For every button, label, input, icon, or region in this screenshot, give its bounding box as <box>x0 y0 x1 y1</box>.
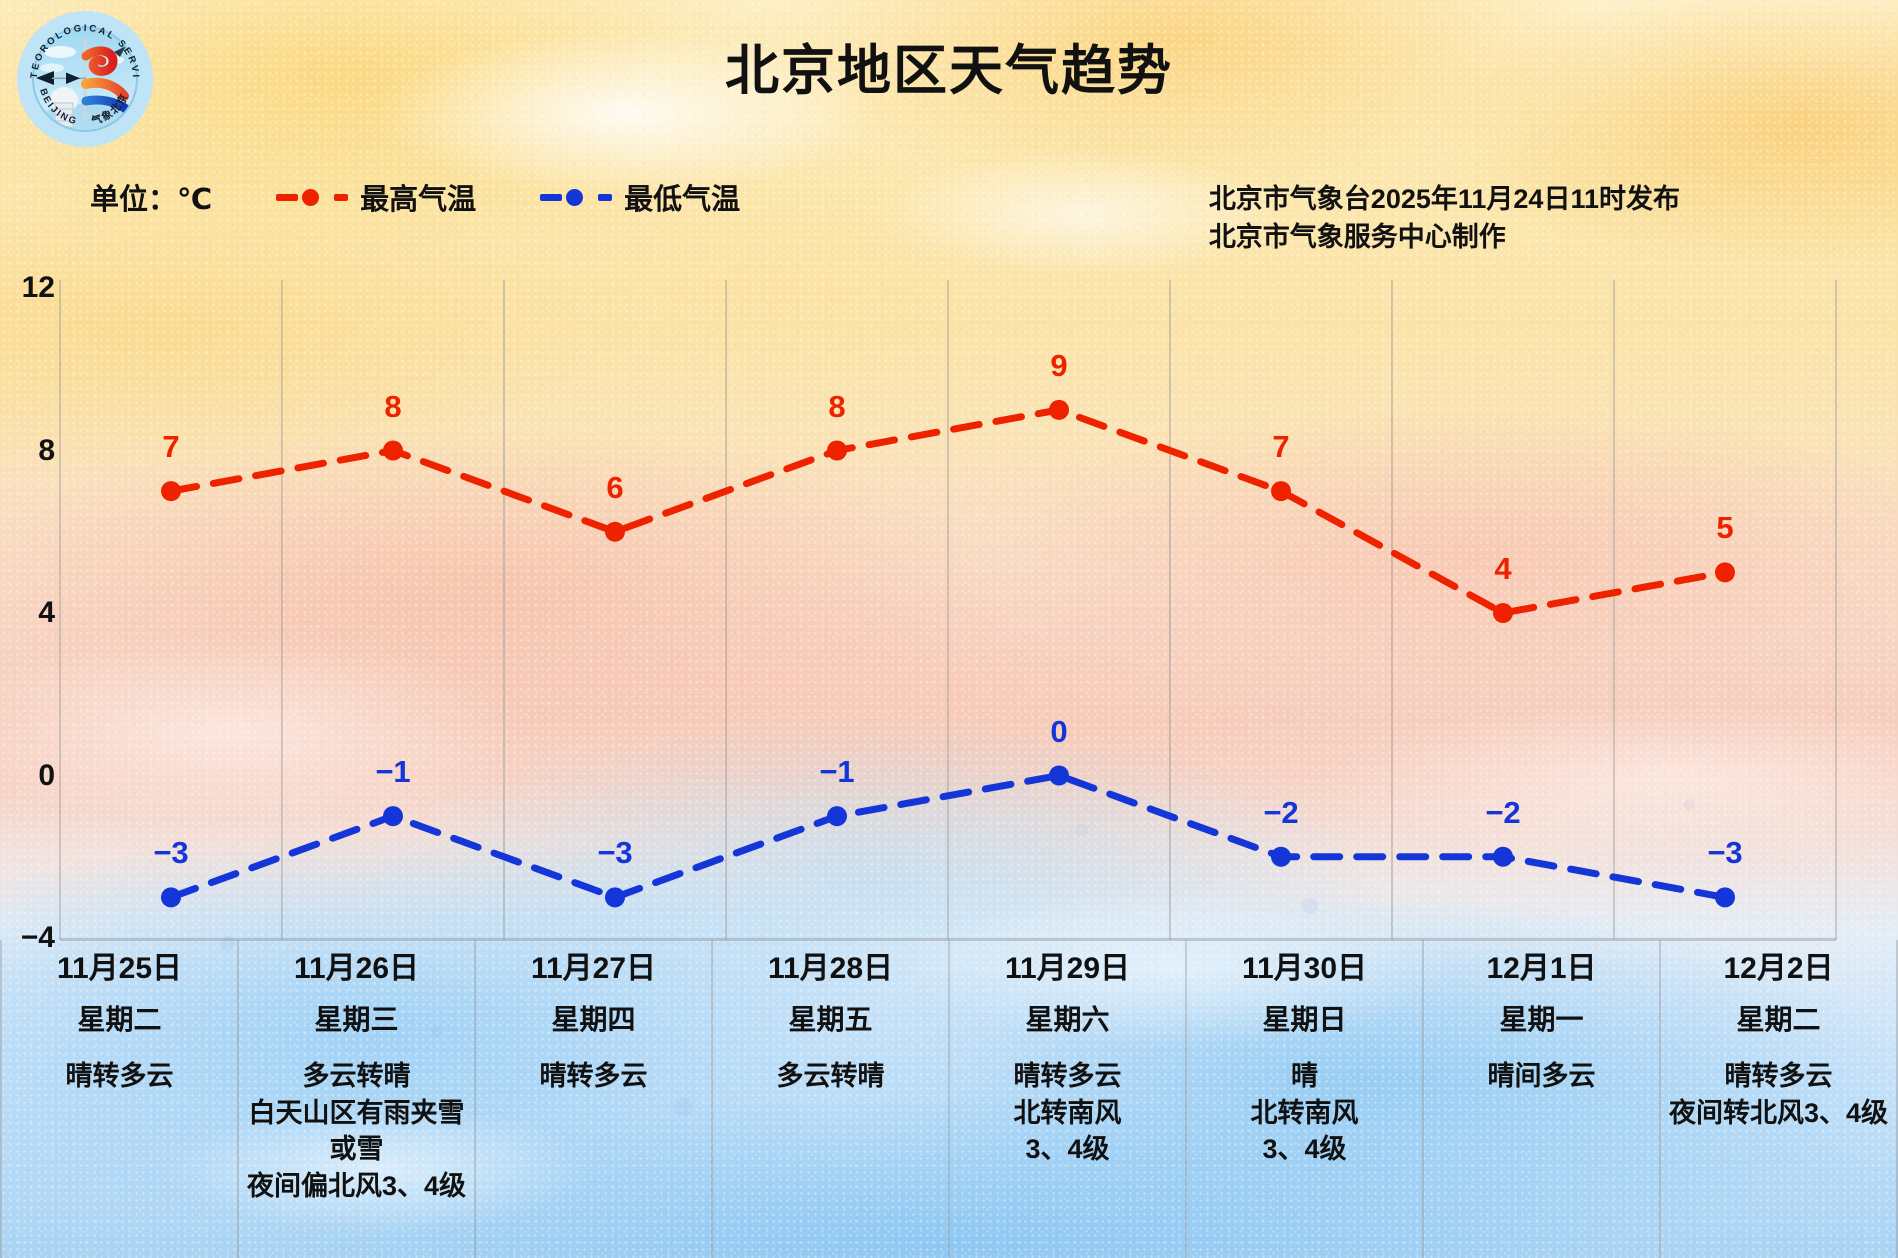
day-weather-description: 多云转晴 <box>719 1058 942 1095</box>
day-weather-line: 晴间多云 <box>1430 1058 1653 1095</box>
day-date: 12月2日 <box>1667 954 1890 984</box>
high-temp-value-label: 5 <box>1716 510 1733 546</box>
issuer-line-1: 北京市气象台2025年11月24日11时发布 <box>1209 180 1680 218</box>
day-weather-description: 多云转晴白天山区有雨夹雪或雪夜间偏北风3、4级 <box>245 1058 468 1205</box>
day-weekday: 星期二 <box>8 1006 231 1034</box>
day-weather-line: 3、4级 <box>1193 1131 1416 1168</box>
y-axis-tick-label: 0 <box>0 759 55 793</box>
day-date: 11月25日 <box>8 954 231 984</box>
high-temp-value-label: 9 <box>1050 348 1067 384</box>
daily-forecast-row: 11月25日星期二晴转多云11月26日星期三多云转晴白天山区有雨夹雪或雪夜间偏北… <box>0 940 1898 1258</box>
day-weekday: 星期四 <box>482 1006 705 1034</box>
day-weather-line: 晴 <box>1193 1058 1416 1095</box>
day-weather-line: 北转南风 <box>956 1095 1179 1132</box>
high-temp-value-label: 8 <box>828 389 845 425</box>
day-weather-description: 晴间多云 <box>1430 1058 1653 1095</box>
low-temp-value-label: −3 <box>153 835 188 871</box>
day-weather-line: 夜间转北风3、4级 <box>1667 1095 1890 1132</box>
day-weather-line: 北转南风 <box>1193 1095 1416 1132</box>
y-axis-tick-label: 12 <box>0 271 55 305</box>
chart-legend: 单位：℃ 最高气温 最低气温 <box>90 176 740 218</box>
legend-label-low: 最低气温 <box>624 176 740 218</box>
day-weekday: 星期三 <box>245 1006 468 1034</box>
day-weather-description: 晴转多云 <box>482 1058 705 1095</box>
issuer-line-2: 北京市气象服务中心制作 <box>1209 218 1680 256</box>
day-date: 11月29日 <box>956 954 1179 984</box>
low-temp-value-label: −2 <box>1263 795 1298 831</box>
day-column[interactable]: 11月30日星期日晴北转南风3、4级 <box>1187 940 1424 1258</box>
high-temp-value-label: 6 <box>606 470 623 506</box>
blue-dashed-line-icon <box>540 187 612 207</box>
low-temp-value-label: −1 <box>819 754 854 790</box>
day-weekday: 星期二 <box>1667 1006 1890 1034</box>
issuer-info: 北京市气象台2025年11月24日11时发布 北京市气象服务中心制作 <box>1209 180 1680 257</box>
day-weekday: 星期日 <box>1193 1006 1416 1034</box>
red-dashed-line-icon <box>276 187 348 207</box>
day-date: 12月1日 <box>1430 954 1653 984</box>
day-weather-line: 晴转多云 <box>482 1058 705 1095</box>
high-temp-value-label: 4 <box>1494 551 1511 587</box>
day-weather-description: 晴北转南风3、4级 <box>1193 1058 1416 1168</box>
day-weather-description: 晴转多云夜间转北风3、4级 <box>1667 1058 1890 1131</box>
y-axis-tick-label: 4 <box>0 596 55 630</box>
day-weather-description: 晴转多云 <box>8 1058 231 1095</box>
day-weekday: 星期五 <box>719 1006 942 1034</box>
day-column[interactable]: 11月27日星期四晴转多云 <box>476 940 713 1258</box>
high-temp-value-label: 7 <box>162 429 179 465</box>
unit-label: 单位：℃ <box>90 176 212 218</box>
day-weather-line: 晴转多云 <box>8 1058 231 1095</box>
day-date: 11月26日 <box>245 954 468 984</box>
legend-label-high: 最高气温 <box>360 176 476 218</box>
y-axis-tick-label: 8 <box>0 434 55 468</box>
day-weekday: 星期一 <box>1430 1006 1653 1034</box>
day-date: 11月27日 <box>482 954 705 984</box>
day-column[interactable]: 11月29日星期六晴转多云北转南风3、4级 <box>950 940 1187 1258</box>
day-date: 11月28日 <box>719 954 942 984</box>
day-weather-line: 夜间偏北风3、4级 <box>245 1168 468 1205</box>
low-temp-value-label: −1 <box>375 754 410 790</box>
low-temp-value-label: 0 <box>1050 714 1067 750</box>
day-weather-line: 多云转晴 <box>245 1058 468 1095</box>
low-temp-value-label: −2 <box>1485 795 1520 831</box>
day-weather-description: 晴转多云北转南风3、4级 <box>956 1058 1179 1168</box>
high-temp-value-label: 8 <box>384 389 401 425</box>
day-weather-line: 多云转晴 <box>719 1058 942 1095</box>
low-temp-value-label: −3 <box>597 835 632 871</box>
high-temp-value-label: 7 <box>1272 429 1289 465</box>
legend-item-low: 最低气温 <box>540 176 740 218</box>
legend-item-high: 最高气温 <box>276 176 476 218</box>
day-weekday: 星期六 <box>956 1006 1179 1034</box>
day-date: 11月30日 <box>1193 954 1416 984</box>
low-temp-value-label: −3 <box>1707 835 1742 871</box>
day-weather-line: 白天山区有雨夹雪或雪 <box>245 1095 468 1168</box>
day-weather-line: 3、4级 <box>956 1131 1179 1168</box>
day-column[interactable]: 11月26日星期三多云转晴白天山区有雨夹雪或雪夜间偏北风3、4级 <box>239 940 476 1258</box>
day-column[interactable]: 12月1日星期一晴间多云 <box>1424 940 1661 1258</box>
day-weather-line: 晴转多云 <box>956 1058 1179 1095</box>
day-column[interactable]: 11月28日星期五多云转晴 <box>713 940 950 1258</box>
day-weather-line: 晴转多云 <box>1667 1058 1890 1095</box>
chart-overlay-labels: 12840−478689745−3−1−3−10−2−2−3 <box>0 280 1898 940</box>
page-title: 北京地区天气趋势 <box>0 26 1898 105</box>
day-column[interactable]: 11月25日星期二晴转多云 <box>0 940 239 1258</box>
day-column[interactable]: 12月2日星期二晴转多云夜间转北风3、4级 <box>1661 940 1898 1258</box>
